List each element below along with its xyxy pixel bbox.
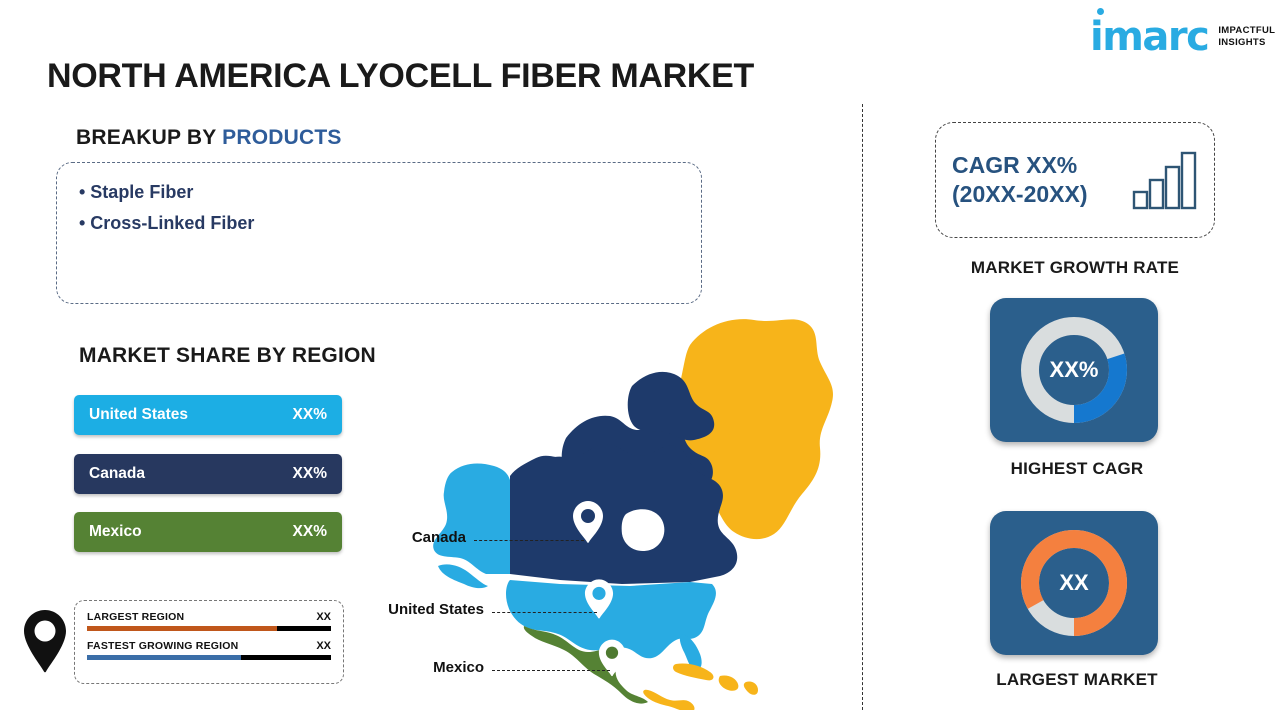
region-bar-label: Canada [89, 465, 145, 483]
stat-progress-track [87, 655, 331, 660]
imarc-logo: imarc IMPACTFUL INSIGHTS [1090, 14, 1270, 60]
stat-label: LARGEST REGION [87, 611, 184, 623]
products-box: • Staple Fiber • Cross-Linked Fiber [56, 162, 702, 304]
map-pin-mexico[interactable] [598, 638, 626, 678]
map-leader-line-mexico [492, 670, 610, 671]
stat-value: XX [316, 611, 331, 623]
region-bar-canada[interactable]: Canada XX% [74, 454, 342, 494]
donut-chart-highest-cagr [1016, 312, 1132, 428]
logo-tagline: IMPACTFUL INSIGHTS [1218, 25, 1275, 49]
infographic-canvas: imarc IMPACTFUL INSIGHTS NORTH AMERICA L… [0, 0, 1280, 720]
logo-tagline-line2: INSIGHTS [1218, 37, 1275, 49]
region-bar-mexico[interactable]: Mexico XX% [74, 512, 342, 552]
product-item: • Staple Fiber [79, 177, 679, 208]
region-stats-box: LARGEST REGION XX FASTEST GROWING REGION… [74, 600, 344, 684]
region-bar-label: United States [89, 406, 188, 424]
vertical-divider [862, 104, 863, 710]
map-region-caribbean-1[interactable] [673, 663, 713, 680]
region-bar-united-states[interactable]: United States XX% [74, 395, 342, 435]
region-bar-value: XX% [293, 523, 327, 541]
stat-progress-fill [87, 655, 241, 660]
region-bar-value: XX% [293, 465, 327, 483]
map-hudson-bay [622, 509, 665, 551]
cagr-line2: (20XX-20XX) [952, 180, 1132, 209]
map-region-caribbean-3[interactable] [744, 681, 758, 694]
caption-market-growth-rate: MARKET GROWTH RATE [925, 258, 1225, 278]
stat-row-largest-region: LARGEST REGION XX [87, 611, 331, 631]
donut-tile-largest-market[interactable]: XX [990, 511, 1158, 655]
donut-tile-highest-cagr[interactable]: XX% [990, 298, 1158, 442]
caption-highest-cagr: HIGHEST CAGR [927, 459, 1227, 479]
stat-row-fastest-growing-region: FASTEST GROWING REGION XX [87, 640, 331, 660]
cagr-line1: CAGR XX% [952, 151, 1132, 180]
map-region-alaska[interactable] [433, 464, 510, 574]
cagr-box: CAGR XX% (20XX-20XX) [935, 122, 1215, 238]
stat-label: FASTEST GROWING REGION [87, 640, 238, 652]
breakup-heading: BREAKUP BY PRODUCTS [76, 126, 342, 150]
caption-largest-market: LARGEST MARKET [927, 670, 1227, 690]
map-label-mexico: Mexico [408, 659, 484, 676]
market-share-heading: MARKET SHARE BY REGION [79, 344, 376, 368]
map-label-canada: Canada [386, 529, 466, 546]
page-title: NORTH AMERICA LYOCELL FIBER MARKET [47, 57, 754, 96]
location-pin-icon [22, 608, 68, 674]
map-label-united-states: United States [352, 601, 484, 618]
cagr-text: CAGR XX% (20XX-20XX) [952, 151, 1132, 209]
breakup-heading-highlight: PRODUCTS [222, 126, 341, 149]
map-pin-canada[interactable] [572, 500, 604, 544]
map-leader-line-united-states [492, 612, 597, 613]
logo-dot-icon [1097, 8, 1104, 15]
stat-progress-fill [87, 626, 277, 631]
donut-chart-largest-market [1016, 525, 1132, 641]
stat-progress-track [87, 626, 331, 631]
region-bar-label: Mexico [89, 523, 142, 541]
north-america-map [390, 290, 860, 710]
map-region-caribbean-2[interactable] [719, 675, 739, 690]
stat-value: XX [316, 640, 331, 652]
map-region-central-america[interactable] [643, 690, 694, 710]
region-bar-value: XX% [293, 406, 327, 424]
breakup-heading-prefix: BREAKUP BY [76, 126, 222, 149]
map-pin-united-states[interactable] [584, 578, 614, 620]
map-leader-line-canada [474, 540, 584, 541]
logo-wordmark: imarc [1090, 17, 1208, 57]
product-item: • Cross-Linked Fiber [79, 208, 679, 239]
logo-tagline-line1: IMPACTFUL [1218, 25, 1275, 37]
bar-chart-icon [1132, 150, 1198, 210]
